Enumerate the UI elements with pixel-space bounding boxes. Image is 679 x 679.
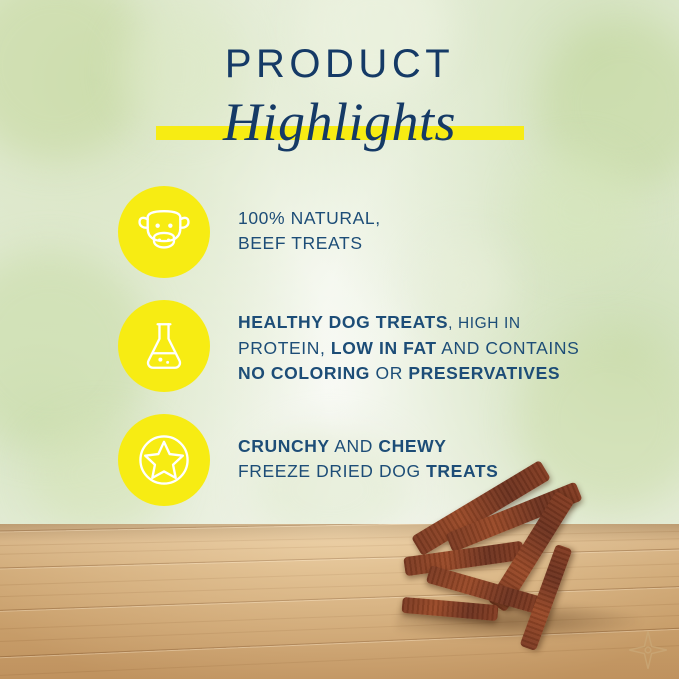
highlight-text-3: CRUNCHY AND CHEWY FREEZE DRIED DOG TREAT… (238, 414, 498, 484)
title-highlights-row: Highlights (0, 90, 679, 154)
highlight-line: PROTEIN, LOW IN FAT AND CONTAINS (238, 336, 579, 361)
highlight-line: NO COLORING OR PRESERVATIVES (238, 361, 579, 386)
flask-icon (135, 317, 193, 375)
list-item: HEALTHY DOG TREATS, HIGH IN PROTEIN, LOW… (0, 300, 679, 392)
star-burst-watermark (625, 627, 671, 673)
title-product: PRODUCT (0, 44, 679, 84)
cow-head-icon (135, 203, 193, 261)
highlight-line: FREEZE DRIED DOG TREATS (238, 459, 498, 484)
highlight-text-1: 100% NATURAL, BEEF TREATS (238, 186, 381, 256)
highlight-line: HEALTHY DOG TREATS, HIGH IN (238, 310, 579, 336)
title-highlights: Highlights (0, 90, 679, 154)
highlight-badge-2 (118, 300, 210, 392)
star-icon (135, 431, 193, 489)
highlights-list: 100% NATURAL, BEEF TREATS HEALTHY D (0, 186, 679, 528)
page-title: PRODUCT Highlights (0, 44, 679, 154)
highlight-line: BEEF TREATS (238, 231, 381, 256)
highlight-badge-3 (118, 414, 210, 506)
highlight-line: CRUNCHY AND CHEWY (238, 434, 498, 459)
highlight-badge-1 (118, 186, 210, 278)
highlight-text-2: HEALTHY DOG TREATS, HIGH IN PROTEIN, LOW… (238, 300, 579, 386)
product-highlights-image: PRODUCT Highlights (0, 0, 679, 679)
product-treats-pile (396, 489, 676, 649)
highlight-line: 100% NATURAL, (238, 206, 381, 231)
list-item: 100% NATURAL, BEEF TREATS (0, 186, 679, 278)
